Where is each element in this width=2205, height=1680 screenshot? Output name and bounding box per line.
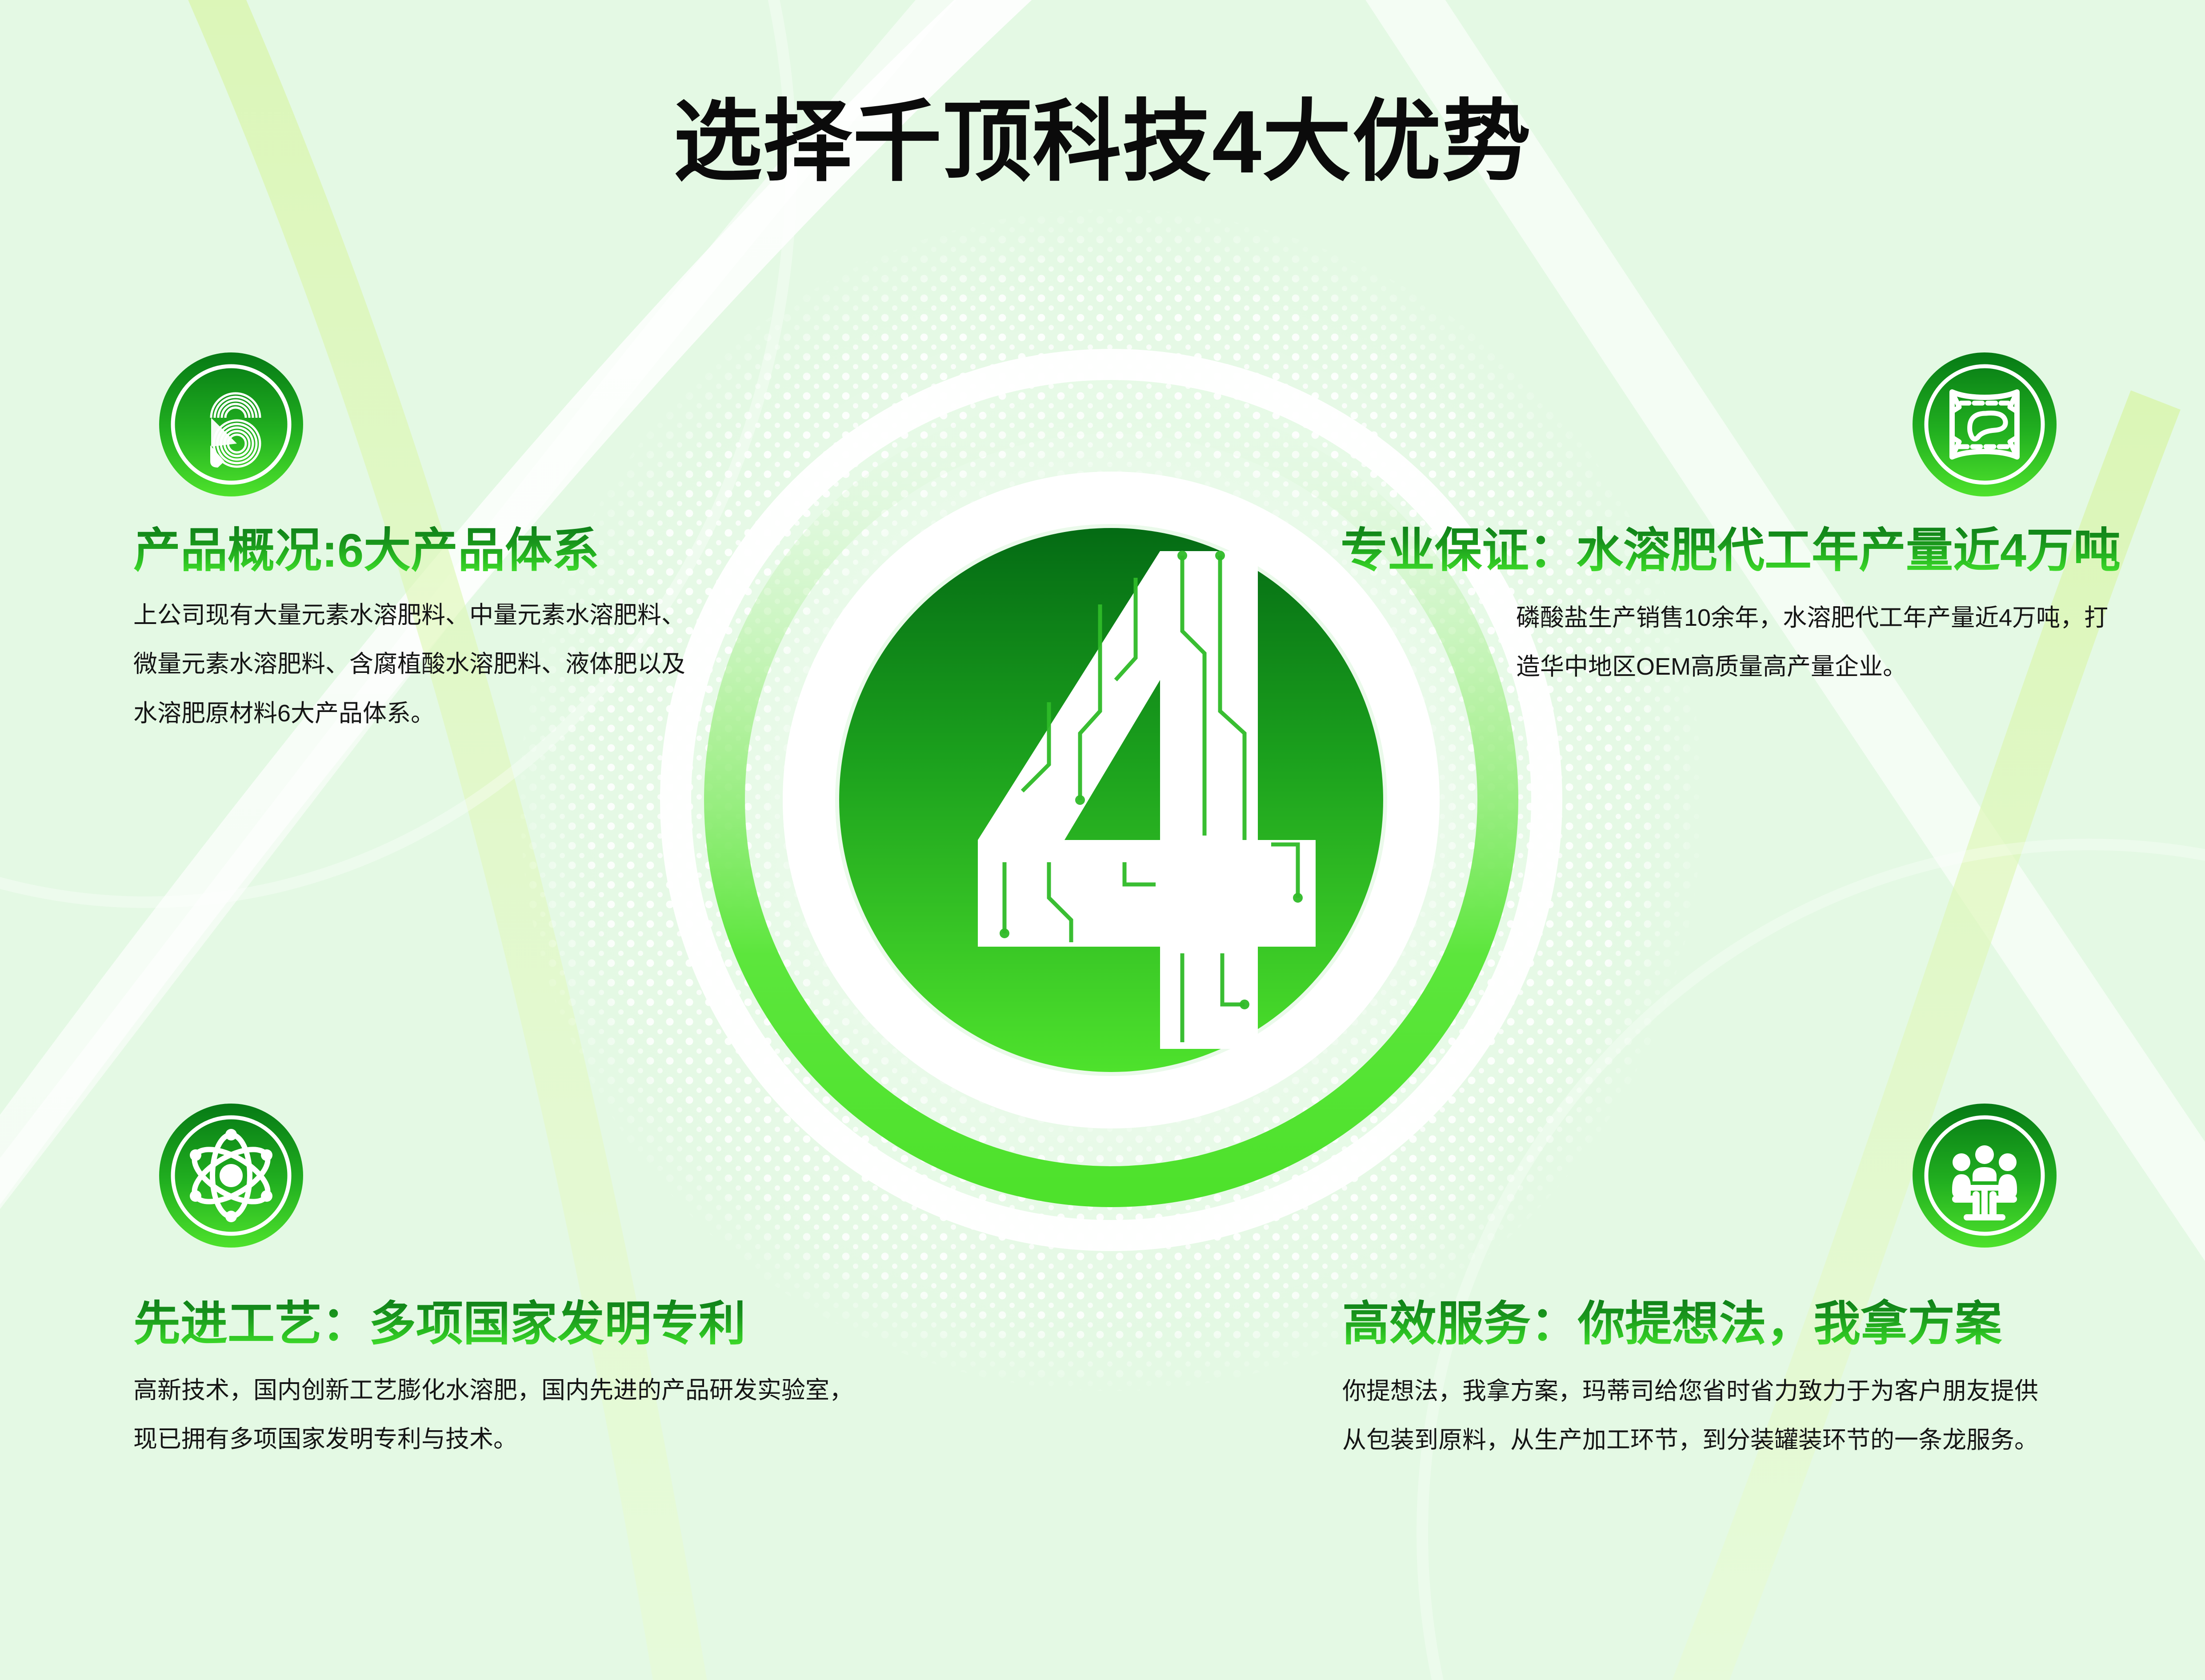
- advantage-headline: 高效服务：你提想法，我拿方案: [1342, 1298, 2107, 1351]
- advantage-body: 你提想法，我拿方案，玛蒂司给您省时省力致力于为客户朋友提供从包装到原料，从生产加…: [1342, 1367, 2053, 1465]
- fertilizer-bag-icon: [1911, 351, 2058, 498]
- advantage-block-efficient-service: 高效服务：你提想法，我拿方案 你提想法，我拿方案，玛蒂司给您省时省力致力于为客户…: [1342, 1298, 2107, 1465]
- advantage-block-professional-guarantee: 专业保证：水溶肥代工年产量近4万吨 磷酸盐生产销售10余年，水溶肥代工年产量近4…: [1116, 524, 2121, 692]
- advantage-block-product-overview: 产品概况:6大产品体系 上公司现有大量元素水溶肥料、中量元素水溶肥料、微量元素水…: [133, 524, 711, 738]
- number-six-badge-icon: [158, 351, 304, 498]
- advantage-block-advanced-process: 先进工艺：多项国家发明专利 高新技术，国内创新工艺膨化水溶肥，国内先进的产品研发…: [133, 1298, 889, 1464]
- advantage-headline: 先进工艺：多项国家发明专利: [133, 1298, 889, 1351]
- atom-icon: [158, 1102, 304, 1249]
- advantage-body: 高新技术，国内创新工艺膨化水溶肥，国内先进的产品研发实验室，现已拥有多项国家发明…: [133, 1366, 871, 1464]
- center-medallion: [578, 267, 1645, 1333]
- advantage-headline: 专业保证：水溶肥代工年产量近4万吨: [1116, 524, 2121, 577]
- page-title: 选择千顶科技4大优势: [0, 96, 2205, 189]
- meeting-table-icon: [1911, 1102, 2058, 1249]
- infographic-canvas: 选择千顶科技4大优势: [0, 0, 2205, 1680]
- advantage-body: 磷酸盐生产销售10余年，水溶肥代工年产量近4万吨，打造华中地区OEM高质量高产量…: [1516, 593, 2121, 692]
- advantage-headline: 产品概况:6大产品体系: [133, 524, 711, 577]
- advantage-body: 上公司现有大量元素水溶肥料、中量元素水溶肥料、微量元素水溶肥料、含腐植酸水溶肥料…: [133, 591, 687, 738]
